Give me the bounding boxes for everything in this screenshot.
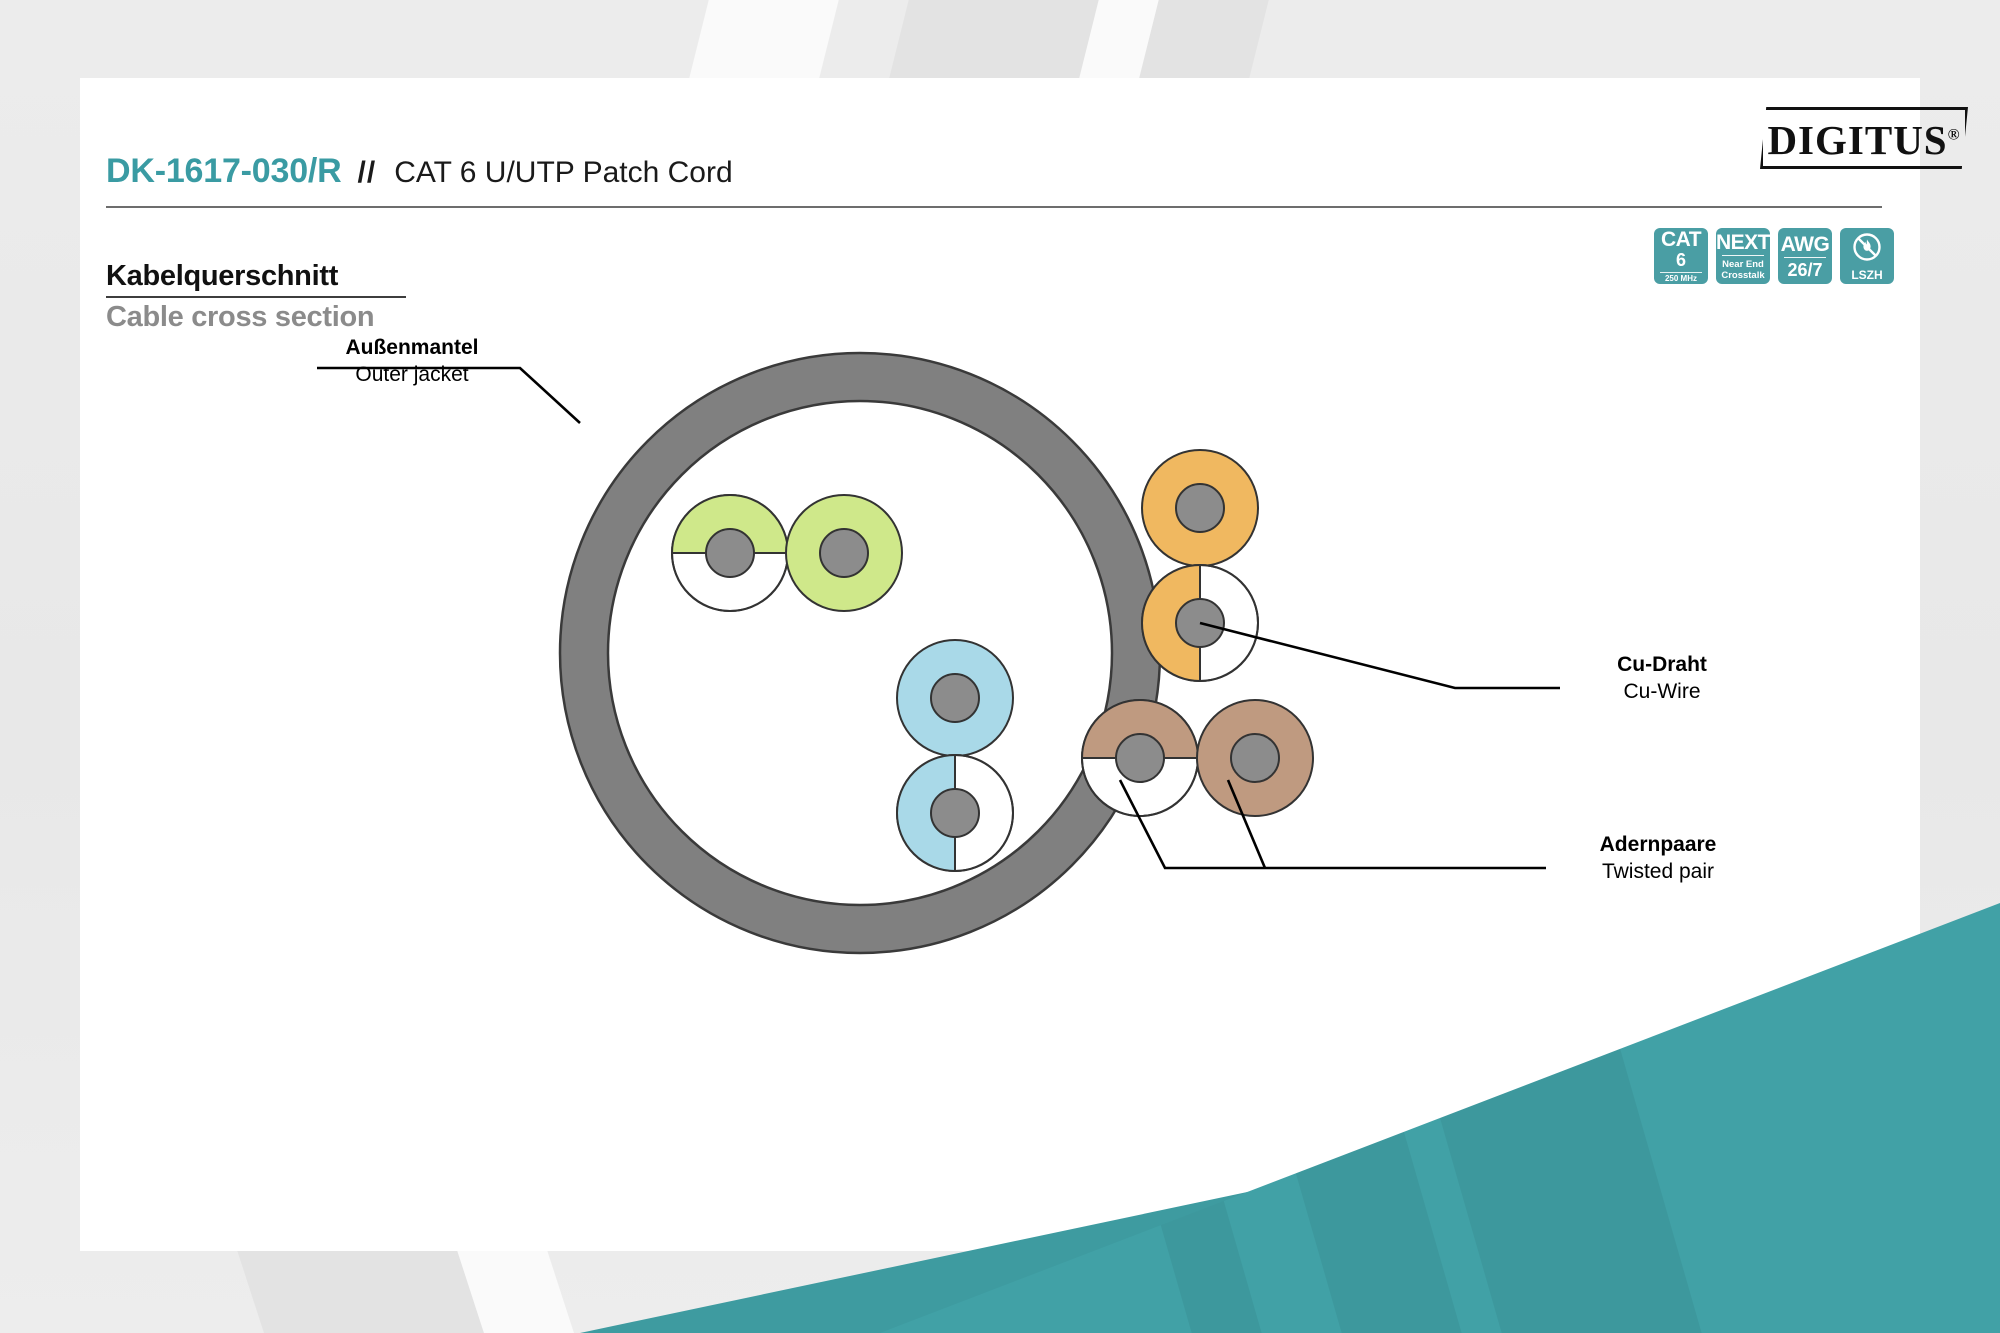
callout-twisted-pair-de: Adernpaare (1558, 833, 1758, 857)
wire-blue-solid (897, 640, 1013, 756)
wire-pair-orange (1142, 450, 1258, 681)
registered-icon: ® (1948, 126, 1961, 143)
callout-cu-wire-en: Cu-Wire (1572, 680, 1752, 704)
wire-blue-white (897, 755, 1013, 871)
wire-orange-solid (1142, 450, 1258, 566)
callout-cu-wire-de: Cu-Draht (1572, 653, 1752, 677)
wire-green-solid (786, 495, 902, 611)
slide-canvas: DIGITUS® DK-1617-030/R//CAT 6 U/UTP Patc… (0, 0, 2000, 1333)
callout-cu-wire: Cu-Draht Cu-Wire (1572, 653, 1752, 704)
callout-outer-jacket: Außenmantel Outer jacket (312, 336, 512, 387)
wire-brown-solid (1197, 700, 1313, 816)
wire-green-white (672, 495, 788, 611)
wire-brown-white (1082, 700, 1198, 816)
outer-jacket (560, 353, 1160, 953)
callout-outer-jacket-en: Outer jacket (312, 363, 512, 387)
callout-outer-jacket-de: Außenmantel (312, 336, 512, 360)
wire-pair-brown (1082, 700, 1313, 816)
callout-twisted-pair: Adernpaare Twisted pair (1558, 833, 1758, 884)
callout-twisted-pair-en: Twisted pair (1558, 860, 1758, 884)
